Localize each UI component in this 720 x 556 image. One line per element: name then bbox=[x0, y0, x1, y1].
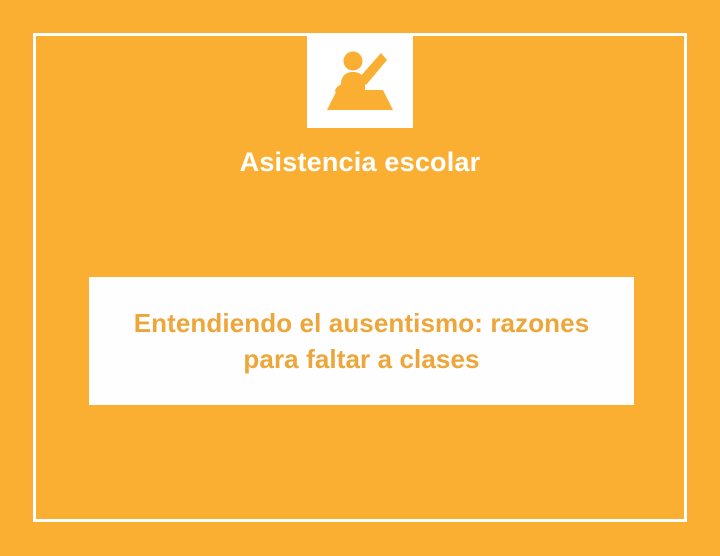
slide-title-line-1: Entendiendo el ausentismo: razones bbox=[112, 305, 612, 341]
title-slide: Asistencia escolar Entendiendo el ausent… bbox=[0, 0, 720, 556]
student-raising-hand-icon bbox=[323, 48, 397, 114]
title-card: Entendiendo el ausentismo: razones para … bbox=[89, 277, 634, 405]
slide-title-line-2: para faltar a clases bbox=[112, 341, 612, 377]
slide-eyebrow: Asistencia escolar bbox=[0, 145, 720, 179]
slide-title: Entendiendo el ausentismo: razones para … bbox=[112, 305, 612, 377]
icon-card bbox=[307, 33, 413, 128]
